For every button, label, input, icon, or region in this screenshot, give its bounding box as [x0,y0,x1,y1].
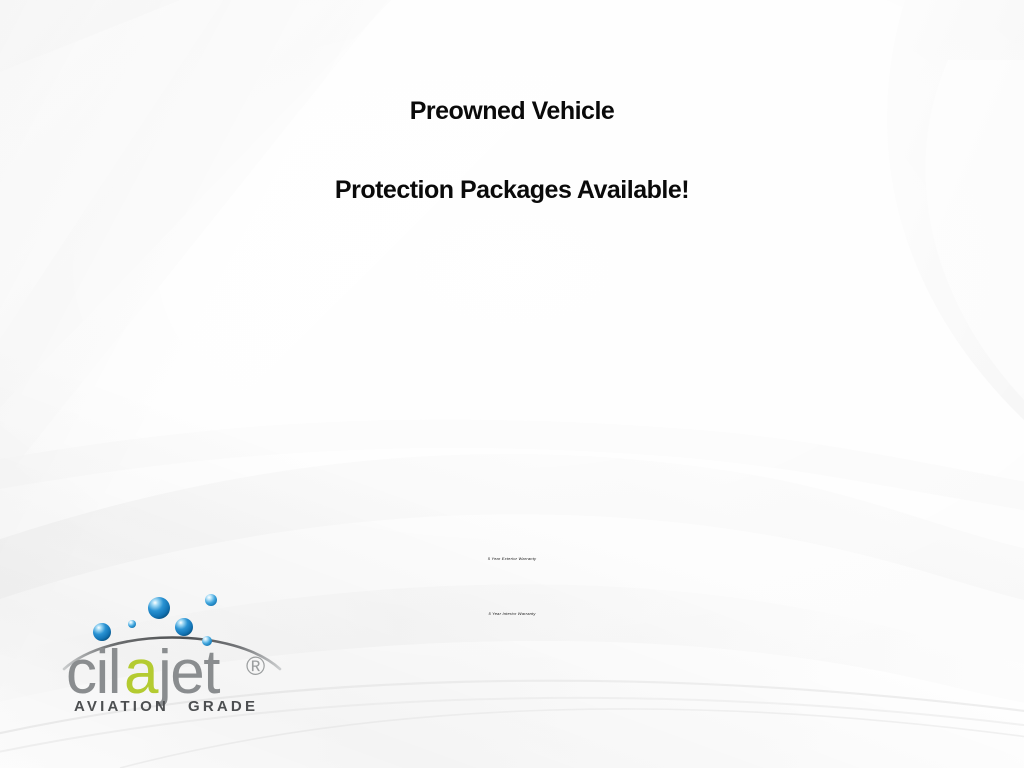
page-title-line-1: Preowned Vehicle [0,80,1024,142]
warranty-exterior: 5 Year Exterior Warranty [0,531,1024,586]
page-title-line-2: Protection Packages Available! [0,159,1024,221]
body-copy-line: Protect the exterior of your investment … [0,279,1024,321]
bubble-icon [148,597,170,619]
bubble-icon [205,594,217,606]
logo-registered-icon: ® [246,651,265,681]
slide-content: Preowned Vehicle Protection Packages Ava… [0,0,1024,768]
logo-wordmark-jet: jet [156,638,220,707]
body-copy-line: interior. [0,447,1024,489]
logo-wordmark-accent-a: a [124,638,159,707]
bubble-icon [128,620,136,628]
body-copy-line: the worry of rips, stains, or punctures … [0,405,1024,447]
logo-wordmark-cil: cil [66,638,120,707]
body-copy-line: Enjoy your quality pre-owned vehicle wit… [0,363,1024,405]
slide-canvas: Preowned Vehicle Protection Packages Ava… [0,0,1024,768]
logo-tagline-grade: GRADE [188,698,258,715]
body-copy-line: road salts, acid rain, bird droppings, a… [0,321,1024,363]
cilajet-logo: cil a jet ® AVIATION GRADE [58,583,286,715]
bubble-icon [175,618,193,636]
body-copy: Protect the exterior of your investment … [0,279,1024,489]
logo-tagline-aviation: AVIATION [74,698,169,715]
